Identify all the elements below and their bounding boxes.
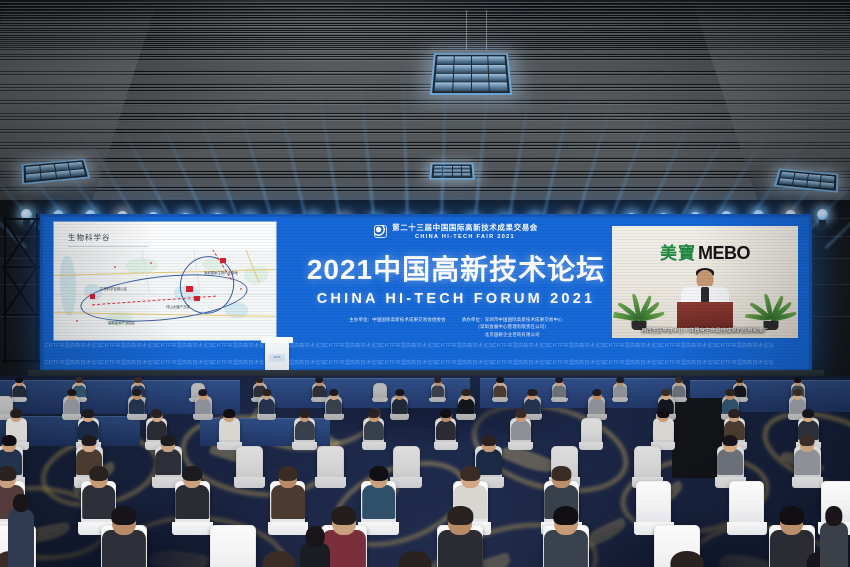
audience-member [458,390,475,410]
person-hair [67,389,76,396]
person-torso [438,530,482,567]
audience-chair [236,446,263,480]
person-hair [306,526,325,547]
ceiling-light-cell [41,171,56,179]
audience-member [12,378,26,394]
person-torso [553,385,566,397]
led-watermark-tile: CHTF中国高新技术论坛 [40,338,96,355]
ceiling-light-cell [489,65,506,73]
person-hair [556,377,564,383]
audience-member [552,378,566,394]
ceiling-light-cell [462,166,470,169]
audience-member [258,390,275,410]
audience-member [270,468,305,512]
ceiling-light-panel-far [429,163,475,179]
ceiling-light-cell [434,170,442,173]
person-hair [793,389,802,396]
person-torso [129,398,145,414]
led-watermark-tile: CHTF中国高新技术论坛 [432,338,488,355]
person-hair [657,409,669,418]
person-hair [803,409,815,418]
person-hair [331,506,356,525]
forum-title-block: 第二十三届中国国际高新技术成果交易会 CHINA HI-TECH FAIR 20… [288,214,624,338]
ceiling-light-cell [462,170,470,173]
led-watermark-tile: CHTF中国高新技术论坛 [320,338,376,355]
organizer-left: 主办单位：中国国际高新技术成果交易会组委会 [349,316,445,338]
audience-member [653,410,674,436]
ceiling-light-cell [56,170,71,178]
audience-floor [0,376,850,567]
scaffold-tower [2,214,42,364]
audience-member [78,410,99,436]
organizer-credits: 主办单位：中国国际高新技术成果交易会组委会 承办单位：深圳市中国国际高新技术成果… [288,316,624,338]
person-hair [515,409,527,418]
ceiling-light-cell [434,83,452,92]
person-hair [369,466,388,481]
audience-member [658,390,675,410]
podium-top [261,337,293,343]
forum-title-cn: 2021中国高新技术论坛 [288,248,624,288]
person-hair [278,466,297,481]
light-head-icon [817,209,828,220]
led-watermark-tile: CHTF中国高新技术论坛 [656,338,712,355]
organizer-right-line2: （深圳会展中心管理有限责任公司） [462,323,563,330]
audience-member [76,436,103,470]
light-hanger-rod [486,10,487,50]
person-hair [496,377,504,383]
person-torso [8,509,34,567]
ceiling-light-cell [443,166,451,169]
person-hair [671,551,704,567]
person-torso [613,385,626,397]
audience-member [361,468,396,512]
person-hair [89,466,108,481]
person-hair [440,409,452,418]
person-hair [256,377,264,383]
mebo-brand-cn: 美寶 [660,239,696,264]
organizer-right-line1: 承办单位：深圳市中国国际高新技术成果交易中心 [462,316,563,323]
ceiling-light-cell [434,173,443,176]
audience-member [63,390,80,410]
person-hair [434,377,442,383]
head-table [480,378,680,408]
ceiling-light-cell [488,56,505,64]
audience-chair [634,446,661,480]
person-hair [592,389,601,396]
ceiling-light-cell [452,170,460,173]
fair-title-cn: 第二十三届中国国际高新技术成果交易会 [392,222,538,233]
chtf-emblem-icon [374,225,387,238]
person-torso [313,385,326,397]
organizer-right: 承办单位：深圳市中国国际高新技术成果交易中心 （深圳会展中心管理有限责任公司） … [462,316,563,338]
map-title: 生物科学谷 [68,232,111,243]
person-hair [661,389,670,396]
person-hair [315,377,323,383]
audience-member [300,526,330,567]
person-hair [481,435,496,446]
audience-member [385,554,445,567]
fair-title-en: CHINA HI-TECH FAIR 2021 [392,234,538,240]
audience-member [524,390,541,410]
person-torso [717,449,743,476]
stage-light-fixture [817,209,828,230]
led-watermark-tile: CHTF中国高新技术论坛 [152,338,208,355]
person-torso [794,449,820,476]
person-torso [13,385,26,397]
person-hair [134,377,142,383]
person-hair [736,377,744,383]
forum-title-en: CHINA HI-TECH FORUM 2021 [288,291,624,307]
person-torso [431,385,444,397]
person-hair [262,551,295,567]
person-hair [616,377,624,383]
person-hair [151,409,163,418]
person-hair [75,377,83,383]
person-torso [294,420,314,440]
audience-member [175,468,210,512]
audience-member [588,390,605,410]
person-torso [820,522,848,567]
person-torso [102,530,146,567]
person-torso [511,420,531,440]
audience-member [128,390,145,410]
person-hair [395,389,404,396]
ceiling-light-cell [70,169,85,177]
person-hair [82,435,97,446]
person-torso [589,398,605,414]
led-watermark-tile: CHTF中国高新技术论坛 [376,338,432,355]
person-torso [364,420,384,440]
audience-member [722,390,739,410]
audience-member [475,436,502,470]
person-hair [111,506,136,525]
video-subtitle: 用再生医学技术让人体器官生命最佳成果的应用和推广 [618,327,792,334]
person-hair [553,506,578,525]
organizer-right-line3: 北京国研企业咨询有限公司 [462,331,563,338]
person-hair [723,435,738,446]
person-torso [458,398,474,414]
audience-member [146,410,167,436]
ceiling-light-cell [437,56,454,64]
map-label: 深圳国家生物产业基地 [204,270,238,275]
person-hair [794,377,802,383]
ceiling-light-cell [821,182,834,189]
person-hair [13,494,29,512]
audience-member [0,436,23,470]
person-hair [675,377,683,383]
audience-chair [581,418,602,444]
person-hair [368,409,380,418]
person-hair [15,377,23,383]
audience-member [101,508,147,566]
person-torso [219,420,239,440]
ceiling-light-cell [434,166,442,169]
audience-chair [317,446,344,480]
map-label: 坪山大道产业带 [166,304,190,309]
map-title-rule [68,246,148,247]
person-torso [544,530,588,567]
person-hair [224,409,236,418]
person-hair [132,389,141,396]
ceiling-light-cell [462,173,471,176]
ceiling-light-cell [453,83,471,92]
person-hair [398,551,431,567]
audience-member [493,378,507,394]
audience-member [391,390,408,410]
ceiling-light-cell [452,166,460,169]
slide-map-panel: 生物科学谷 [54,222,276,340]
audience-member [820,506,848,567]
ceiling-light-cell [454,65,471,73]
person-hair [183,466,202,481]
person-hair [726,389,735,396]
light-hanger-rod [466,10,467,50]
person-torso [258,398,274,414]
person-hair [461,466,480,481]
audience-chair [729,481,764,525]
conference-hall-photo: CHTF中国高新技术论坛CHTF中国高新技术论坛CHTF中国高新技术论坛CHTF… [0,0,850,567]
person-hair [11,409,23,418]
map-canvas: 生物科学谷核心区 坪山大道产业带 深圳国家生物产业基地 高新技术产业园区 [54,250,276,340]
person-hair [262,389,271,396]
video-lectern [677,302,733,328]
ceiling-light-cell [807,180,821,187]
led-watermark-tile: CHTF中国高新技术论坛 [544,338,600,355]
person-torso [362,485,396,519]
person-hair [779,506,804,525]
led-watermark-tile: CHTF中国高新技术论坛 [712,338,768,355]
person-hair [0,466,17,481]
audience-chair [636,481,671,525]
audience-member [363,410,384,436]
person-hair [552,466,571,481]
ceiling-light-cell [472,83,490,92]
audience-member [543,508,589,566]
audience-member [219,410,240,436]
ceiling-light-panel [430,53,512,95]
person-hair [329,389,338,396]
ceiling-light-cell [443,170,451,173]
audience-member [613,378,627,394]
audience-member [81,468,116,512]
map-label: 高新技术产业园区 [108,320,135,325]
audience-member [6,410,27,436]
ceiling-light-cell [471,56,487,64]
audience-member [155,436,182,470]
audience-member [798,410,819,436]
fair-branding-row: 第二十三届中国国际高新技术成果交易会 CHINA HI-TECH FAIR 20… [288,222,624,240]
audience-member [294,410,315,436]
led-watermark-tile: CHTF中国高新技术论坛 [208,338,264,355]
person-torso [195,398,211,414]
audience-member [717,436,744,470]
person-hair [800,435,815,446]
person-torso [436,420,456,440]
ceiling-light-cell [779,178,793,185]
person-hair [448,506,473,525]
audience-member [431,378,445,394]
potted-plant-left [616,278,662,330]
person-hair [299,409,311,418]
led-watermark-tile: CHTF中国高新技术论坛 [600,338,656,355]
person-hair [462,389,471,396]
person-torso [391,398,407,414]
person-hair [198,389,207,396]
ceiling-light-cell [471,65,488,73]
audience-member [724,410,745,436]
person-hair [2,435,17,446]
audience-member [789,390,806,410]
ceiling-light-cell [489,73,507,81]
audience-chair [393,446,420,480]
ceiling-light-cell [26,173,41,181]
led-video-wall: CHTF中国高新技术论坛CHTF中国高新技术论坛CHTF中国高新技术论坛CHTF… [40,214,812,372]
audience-member [510,410,531,436]
led-watermark-tile: CHTF中国高新技术论坛 [96,338,152,355]
led-wall-watermark-pattern: CHTF中国高新技术论坛CHTF中国高新技术论坛CHTF中国高新技术论坛CHTF… [40,338,812,372]
audience-chair [373,383,387,399]
person-hair [161,435,176,446]
audience-member [657,554,717,567]
map-label: 生物科学谷核心区 [100,286,127,291]
person-hair [83,409,95,418]
audience-member [312,378,326,394]
mebo-brand-en: MEBO [698,243,750,264]
audience-member [325,390,342,410]
light-body [819,220,826,230]
ceiling-light-cell [454,56,470,64]
slide-video-panel: 美寶 MEBO [612,226,798,338]
person-torso [326,398,342,414]
ceiling-light-cell [490,83,508,92]
person-hair [729,409,741,418]
audience-member [195,390,212,410]
person-torso [271,485,305,519]
person-hair [825,506,842,526]
ceiling-light-cell [453,173,461,176]
audience-member [794,436,821,470]
person-torso [175,485,209,519]
led-watermark-tile: CHTF中国高新技术论坛 [488,338,544,355]
potted-plant-right [748,278,794,330]
ceiling-light-cell [472,73,489,81]
podium-sign: CHTF [269,354,285,362]
ceiling-light-cell [453,73,470,81]
mebo-logo: 美寶 MEBO [660,239,750,264]
audience-member [435,410,456,436]
ceiling-light-cell [435,73,453,81]
person-torso [493,385,506,397]
ceiling-light-cell [443,173,451,176]
audience-member [8,494,34,567]
person-hair [528,389,537,396]
ceiling-light-cell [793,179,807,186]
ceiling-light-cell [436,65,453,73]
person-torso [653,420,673,440]
